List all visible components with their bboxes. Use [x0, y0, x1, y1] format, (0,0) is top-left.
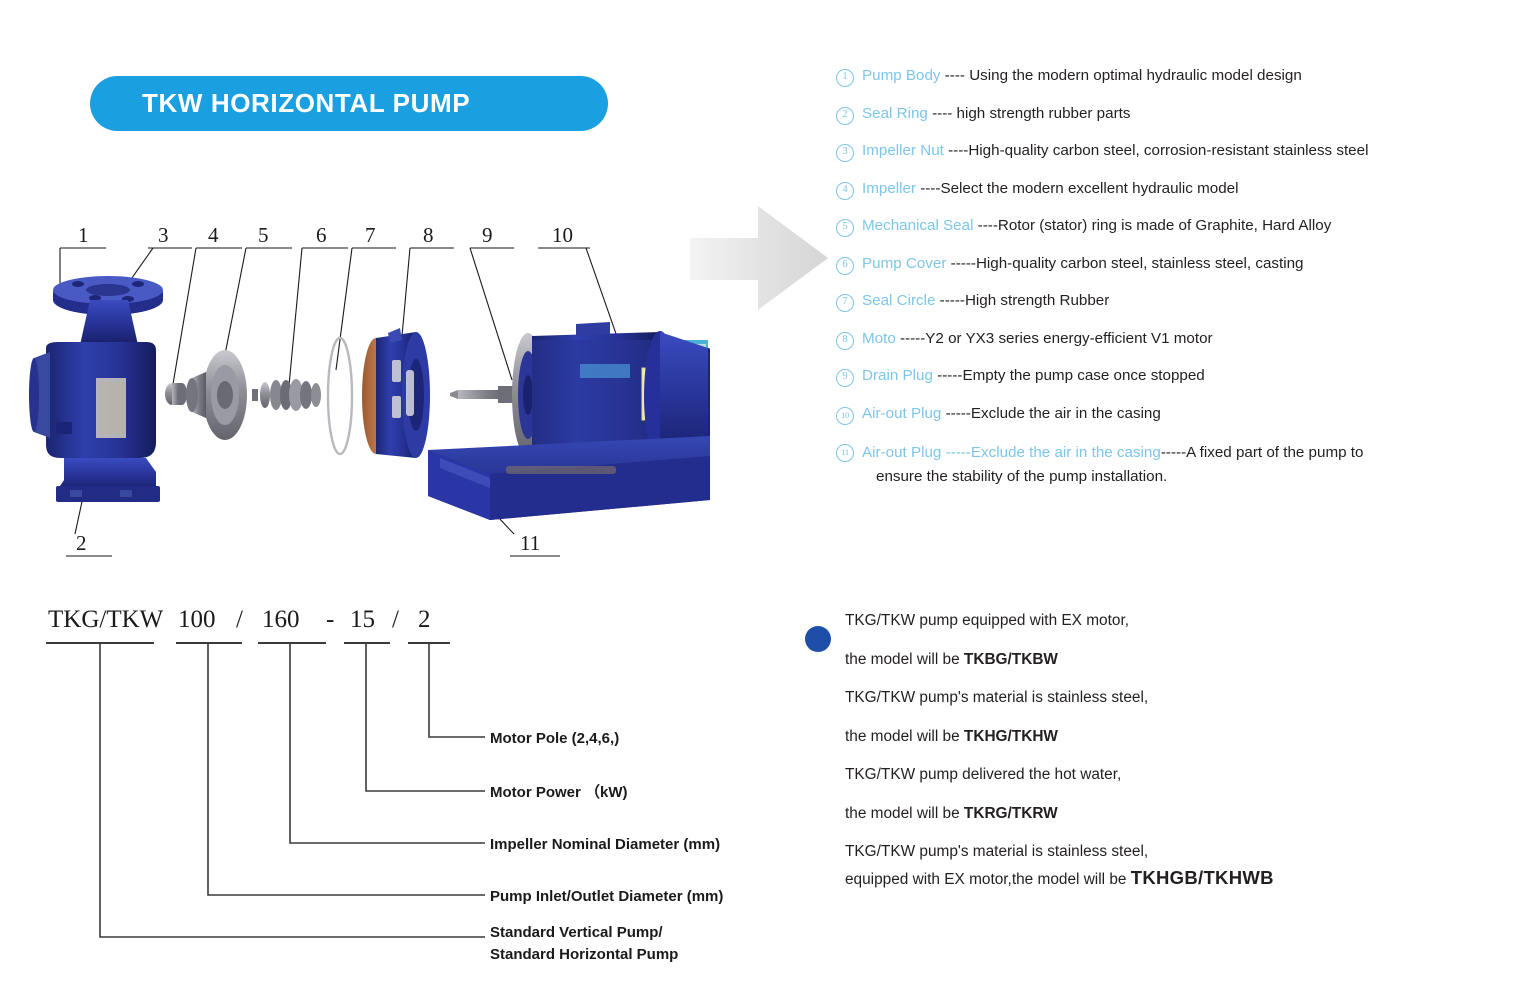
- note-line: the model will be TKBG/TKBW: [845, 651, 1400, 669]
- legend-number-icon: 6: [836, 257, 854, 275]
- code-segment-inlet: 100: [178, 606, 216, 633]
- callout-3: 3: [158, 223, 169, 247]
- legend-item-text: Moto -----Y2 or YX3 series energy-effici…: [862, 329, 1496, 348]
- legend-part-desc: Y2 or YX3 series energy-efficient V1 mot…: [925, 330, 1212, 347]
- code-slash-1: /: [236, 606, 243, 633]
- note-prefix: the model will be: [845, 805, 964, 822]
- legend-desc-line2: ensure the stability of the pump install…: [862, 465, 1496, 489]
- note-line: TKG/TKW pump's material is stainless ste…: [845, 843, 1400, 861]
- legend-part-name: Seal Circle: [862, 292, 935, 309]
- callout-5: 5: [258, 223, 269, 247]
- label-motor-pole: Motor Pole (2,4,6,): [490, 730, 619, 747]
- legend-item-text: Seal Ring ---- high strength rubber part…: [862, 104, 1496, 123]
- label-inlet-dia: Pump Inlet/Outlet Diameter (mm): [490, 888, 723, 905]
- model-variant-notes: TKG/TKW pump equipped with EX motor, the…: [800, 612, 1400, 910]
- drain-plug-shaft-part: [450, 386, 516, 403]
- impeller-nut-part: [165, 383, 187, 405]
- code-segment-impeller: 160: [262, 606, 300, 633]
- legend-item: 1 Pump Body ---- Using the modern optima…: [836, 66, 1496, 87]
- callout-10: 10: [552, 223, 573, 247]
- legend-part-desc: A fixed part of the pump to: [1186, 444, 1363, 461]
- exploded-pump-diagram: 1 3 4 5 6 7: [20, 200, 710, 570]
- legend-part-name: Air-out Plug: [862, 444, 941, 461]
- label-standard-pump-2: Standard Horizontal Pump: [490, 946, 678, 963]
- legend-separator: ----: [973, 217, 997, 234]
- legend-part-name: Air-out Plug: [862, 405, 941, 422]
- legend-item: 11 Air-out Plug -----Exclude the air in …: [836, 441, 1496, 488]
- legend-separator: -----: [941, 405, 971, 422]
- legend-item-text: Pump Cover -----High-quality carbon stee…: [862, 254, 1496, 273]
- mechanical-seal-part: [252, 379, 321, 411]
- legend-number-icon: 8: [836, 332, 854, 350]
- legend-item-text: Impeller Nut ----High-quality carbon ste…: [862, 141, 1496, 160]
- note-line: the model will be TKHG/TKHW: [845, 728, 1400, 746]
- legend-item-text: Air-out Plug -----Exclude the air in the…: [862, 441, 1496, 488]
- legend-part-desc: Select the modern excellent hydraulic mo…: [940, 180, 1238, 197]
- note-prefix: equipped with EX motor,the model will be: [845, 871, 1131, 888]
- legend-separator: ----: [916, 180, 940, 197]
- title-banner: TKW HORIZONTAL PUMP: [90, 76, 608, 131]
- legend-number-icon: 9: [836, 369, 854, 387]
- legend-item-text: Drain Plug -----Empty the pump case once…: [862, 366, 1496, 385]
- legend-blue-desc: Exclude the air in the casing: [971, 444, 1161, 461]
- code-segment-series: TKG/TKW: [48, 606, 164, 633]
- callout-9: 9: [482, 223, 493, 247]
- note-model-code: TKBG/TKBW: [964, 651, 1058, 668]
- base-plate-part: [428, 436, 710, 520]
- legend-part-desc: Rotor (stator) ring is made of Graphite,…: [998, 217, 1331, 234]
- legend-part-name: Pump Body: [862, 67, 941, 84]
- legend-number-icon: 10: [836, 407, 854, 425]
- legend-item: 3 Impeller Nut ----High-quality carbon s…: [836, 141, 1496, 162]
- legend-part-name: Impeller: [862, 180, 916, 197]
- note-prefix: the model will be: [845, 728, 964, 745]
- model-code-row: TKG/TKW 100 / 160 - 15 / 2: [48, 606, 431, 633]
- legend-separator: ----: [944, 142, 968, 159]
- leader-lines: [100, 643, 485, 937]
- label-motor-power: Motor Power （kW): [490, 783, 628, 801]
- code-slash-2: /: [392, 606, 399, 633]
- legend-part-desc: Exclude the air in the casing: [971, 405, 1161, 422]
- legend-part-name: Impeller Nut: [862, 142, 944, 159]
- callout-6: 6: [316, 223, 327, 247]
- legend-item-text: Seal Circle -----High strength Rubber: [862, 291, 1496, 310]
- legend-part-desc: High-quality carbon steel, stainless ste…: [976, 255, 1304, 272]
- legend-separator-2: -----: [1161, 444, 1186, 461]
- legend-part-name: Moto: [862, 330, 896, 347]
- legend-item-text: Pump Body ---- Using the modern optimal …: [862, 66, 1496, 85]
- model-nomenclature-diagram: TKG/TKW 100 / 160 - 15 / 2: [30, 595, 730, 975]
- legend-part-name: Drain Plug: [862, 367, 933, 384]
- arrow-icon: [690, 206, 828, 310]
- legend-number-icon: 2: [836, 107, 854, 125]
- legend-part-name: Mechanical Seal: [862, 217, 973, 234]
- legend-separator: -----: [933, 367, 963, 384]
- pump-body-part: [29, 276, 163, 502]
- code-dash: -: [326, 606, 334, 633]
- legend-item: 10 Air-out Plug -----Exclude the air in …: [836, 404, 1496, 425]
- legend-number-icon: 7: [836, 294, 854, 312]
- legend-separator: -----: [935, 292, 965, 309]
- legend-item: 6 Pump Cover -----High-quality carbon st…: [836, 254, 1496, 275]
- legend-number-icon: 4: [836, 182, 854, 200]
- legend-item: 9 Drain Plug -----Empty the pump case on…: [836, 366, 1496, 387]
- code-segment-pole: 2: [418, 606, 431, 633]
- seal-circle-part: [328, 338, 352, 454]
- legend-part-desc: Empty the pump case once stopped: [962, 367, 1204, 384]
- note-line: the model will be TKRG/TKRW: [845, 805, 1400, 823]
- right-arrow-graphic: [688, 200, 848, 320]
- code-segment-power: 15: [350, 606, 375, 633]
- callout-7: 7: [365, 223, 376, 247]
- legend-number-icon: 11: [836, 444, 854, 462]
- legend-part-desc: High-quality carbon steel, corrosion-res…: [968, 142, 1368, 159]
- legend-part-name: Pump Cover: [862, 255, 946, 272]
- label-impeller-dia: Impeller Nominal Diameter (mm): [490, 836, 720, 853]
- note-line: TKG/TKW pump equipped with EX motor,: [845, 612, 1400, 630]
- impeller-part: [186, 350, 247, 440]
- legend-item-text: Impeller ----Select the modern excellent…: [862, 179, 1496, 198]
- legend-separator: ----: [941, 67, 970, 84]
- note-line: TKG/TKW pump delivered the hot water,: [845, 766, 1400, 784]
- callout-2: 2: [76, 531, 87, 555]
- legend-item-text: Air-out Plug -----Exclude the air in the…: [862, 404, 1496, 423]
- legend-item: 5 Mechanical Seal ----Rotor (stator) rin…: [836, 216, 1496, 237]
- product-spec-page: TKW HORIZONTAL PUMP: [0, 0, 1513, 1000]
- legend-separator: -----: [896, 330, 926, 347]
- callout-4: 4: [208, 223, 219, 247]
- legend-item: 7 Seal Circle -----High strength Rubber: [836, 291, 1496, 312]
- legend-part-desc: high strength rubber parts: [957, 105, 1131, 122]
- callout-8: 8: [423, 223, 434, 247]
- note-prefix: the model will be: [845, 651, 964, 668]
- legend-part-desc: High strength Rubber: [965, 292, 1109, 309]
- legend-number-icon: 3: [836, 144, 854, 162]
- legend-part-name: Seal Ring: [862, 105, 928, 122]
- legend-separator: ----: [928, 105, 957, 122]
- callout-1: 1: [78, 223, 89, 247]
- note-model-code: TKHG/TKHW: [964, 728, 1058, 745]
- parts-legend: 1 Pump Body ---- Using the modern optima…: [836, 66, 1496, 505]
- legend-item: 2 Seal Ring ---- high strength rubber pa…: [836, 104, 1496, 125]
- note-model-code: TKRG/TKRW: [964, 805, 1058, 822]
- legend-item-text: Mechanical Seal ----Rotor (stator) ring …: [862, 216, 1496, 235]
- callout-11: 11: [520, 531, 540, 555]
- page-title: TKW HORIZONTAL PUMP: [142, 88, 470, 119]
- pump-cover-part: [362, 328, 430, 458]
- legend-number-icon: 1: [836, 69, 854, 87]
- label-standard-pump-1: Standard Vertical Pump/: [490, 924, 663, 941]
- legend-separator: -----: [941, 444, 971, 461]
- nomenclature-labels: Motor Pole (2,4,6,) Motor Power （kW) Imp…: [490, 730, 723, 963]
- legend-item: 4 Impeller ----Select the modern excelle…: [836, 179, 1496, 200]
- legend-number-icon: 5: [836, 219, 854, 237]
- bullet-icon: [805, 626, 831, 652]
- note-model-code: TKHGB/TKHWB: [1131, 867, 1274, 888]
- note-line: TKG/TKW pump's material is stainless ste…: [845, 689, 1400, 707]
- legend-separator: -----: [946, 255, 976, 272]
- note-line: equipped with EX motor,the model will be…: [845, 867, 1400, 889]
- legend-part-desc: Using the modern optimal hydraulic model…: [969, 67, 1302, 84]
- legend-item: 8 Moto -----Y2 or YX3 series energy-effi…: [836, 329, 1496, 350]
